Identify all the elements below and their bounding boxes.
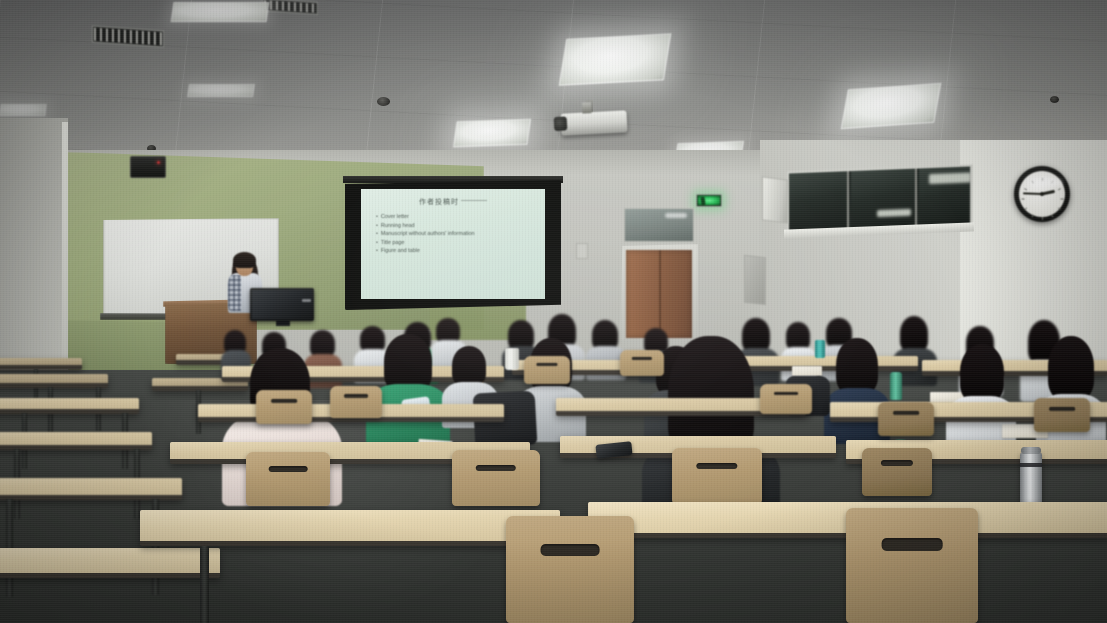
green-water-bottle	[890, 372, 902, 400]
projector-bracket	[582, 102, 592, 113]
desk	[0, 398, 139, 414]
student-hair	[452, 346, 486, 386]
door-transom-window	[624, 208, 694, 242]
clock-face	[1019, 171, 1065, 217]
clock-tick	[1061, 199, 1064, 200]
exit-sign	[696, 194, 722, 207]
clock-tick	[1058, 208, 1061, 210]
thermos-band	[1020, 463, 1042, 467]
paper-cup	[505, 348, 519, 370]
wall-clock	[1014, 166, 1070, 222]
chair[interactable]	[878, 402, 934, 436]
clock-tick	[1058, 188, 1061, 190]
wall-speaker	[762, 176, 788, 223]
student-hair	[960, 344, 1004, 402]
chair[interactable]	[330, 386, 382, 418]
chair[interactable]	[452, 450, 540, 506]
slide-bullet: Cover letter	[376, 213, 539, 222]
clock-glass-glare	[1028, 178, 1062, 187]
clock-tick	[1051, 214, 1053, 217]
clock-center-pin	[1040, 192, 1044, 196]
clock-tick	[1024, 188, 1027, 190]
desk	[0, 358, 82, 370]
desk	[0, 374, 108, 388]
projector-lens-icon	[554, 116, 568, 131]
smoke-detector-icon	[1050, 96, 1059, 103]
smoke-detector-icon	[377, 97, 390, 106]
slide-title: 作者投稿时	[361, 197, 545, 207]
ceiling-projector	[560, 110, 627, 135]
desk	[0, 478, 182, 500]
student-hair	[742, 318, 770, 352]
slide-bullet: Manuscript without authors' information	[376, 230, 539, 239]
ceiling-light-panel	[171, 2, 270, 22]
clock-tick	[1022, 199, 1025, 200]
classroom-photo: 作者投稿时 Cover letter Running head Manuscri…	[0, 0, 1107, 623]
ceiling-light-panel	[841, 83, 942, 129]
chair[interactable]	[672, 448, 762, 504]
chair[interactable]	[620, 350, 664, 376]
classroom-door[interactable]	[626, 250, 692, 338]
desk-leg	[200, 546, 209, 623]
chair[interactable]	[846, 508, 978, 623]
lecturer-hair	[233, 252, 256, 268]
student-hair	[900, 316, 928, 352]
ceiling-light-panel	[0, 104, 47, 116]
wall-speaker	[130, 156, 166, 178]
student-hair	[836, 338, 878, 394]
monitor-screen	[252, 290, 312, 319]
student-hair	[786, 322, 810, 350]
window-pane	[789, 171, 849, 231]
student-hair	[310, 330, 335, 357]
desk	[0, 548, 220, 578]
ceiling-light-panel	[453, 119, 531, 148]
slide-bullet: Figure and table	[376, 247, 539, 256]
chair[interactable]	[862, 448, 932, 496]
ceiling-light-panel	[559, 33, 672, 85]
notebook-papers	[792, 366, 822, 376]
chair[interactable]	[760, 384, 812, 414]
glass-glare	[665, 213, 687, 218]
wall-control-panel	[744, 255, 766, 305]
lecturer-shirt-pattern	[228, 275, 241, 311]
monitor-logo	[302, 299, 311, 302]
presentation-slide: 作者投稿时 Cover letter Running head Manuscri…	[361, 189, 545, 299]
chair[interactable]	[256, 390, 312, 424]
door-leaf-gap	[659, 250, 661, 338]
wall-outlet-plate	[576, 243, 588, 259]
desk	[0, 432, 152, 450]
student-hair	[1048, 336, 1094, 400]
clock-tick	[1042, 217, 1043, 220]
clock-tick	[1032, 214, 1034, 217]
chair[interactable]	[524, 356, 570, 384]
silver-thermos	[1020, 452, 1042, 507]
projection-screen: 作者投稿时 Cover letter Running head Manuscri…	[345, 180, 561, 310]
window-pane	[851, 169, 917, 230]
chair[interactable]	[506, 516, 634, 623]
slide-bullet: Running head	[376, 222, 539, 231]
chair[interactable]	[1034, 398, 1090, 432]
chair[interactable]	[246, 452, 330, 506]
slide-bullet-list: Cover letter Running head Manuscript wit…	[376, 213, 539, 256]
clock-tick	[1024, 208, 1027, 210]
window-light-reflection	[877, 209, 911, 217]
ceiling-light-panel	[187, 84, 255, 97]
desk	[140, 510, 560, 546]
desktop-monitor	[250, 288, 314, 321]
window-light-reflection	[929, 172, 971, 184]
thermos-cap	[1021, 447, 1041, 454]
slide-bullet: Title page	[376, 239, 539, 248]
